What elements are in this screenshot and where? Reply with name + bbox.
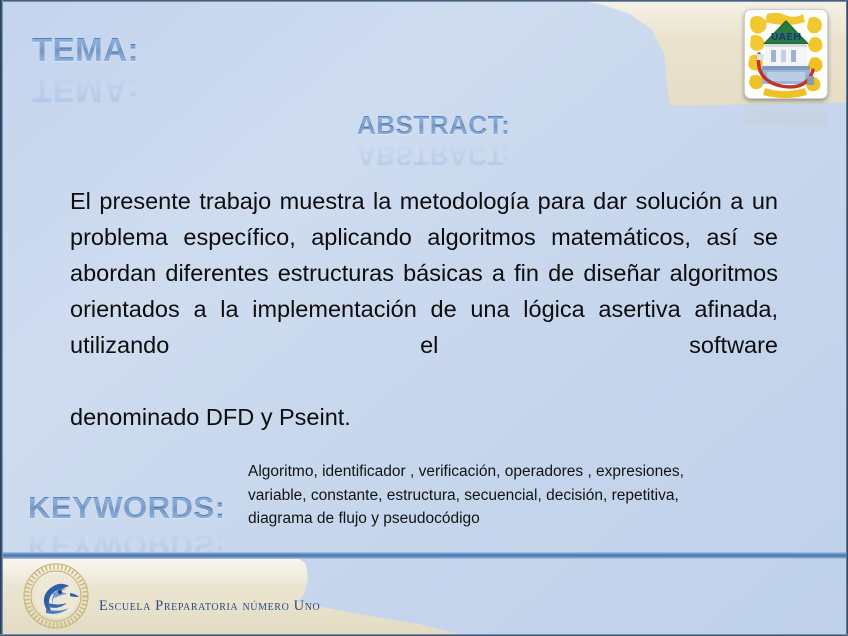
keywords-line-3: diagrama de flujo y pseudocódigo	[248, 507, 804, 531]
footer-divider-rule	[0, 552, 848, 559]
keywords-heading-group: KEYWORDS: KEYWORDS:	[28, 490, 225, 526]
tema-heading-group: TEMA: TEMA:	[32, 31, 139, 69]
svg-text:UAEH: UAEH	[771, 32, 802, 43]
keywords-heading: KEYWORDS:	[28, 490, 225, 526]
abstract-body: El presente trabajo muestra la metodolog…	[70, 183, 778, 435]
abstract-paragraph-1: El presente trabajo muestra la metodolog…	[70, 183, 778, 399]
abstract-heading: ABSTRACT:	[357, 110, 510, 141]
abstract-heading-group: ABSTRACT: ABSTRACT:	[357, 110, 510, 141]
tema-heading-reflection: TEMA:	[32, 71, 139, 109]
eagle-seal-icon	[22, 562, 90, 630]
uaeh-logo: UAEH	[744, 9, 828, 99]
tema-heading: TEMA:	[32, 31, 139, 69]
abstract-heading-reflection: ABSTRACT:	[357, 140, 510, 171]
slide-border-top	[0, 0, 848, 2]
footer-institution-label: Escuela Preparatoria número Uno	[99, 598, 320, 615]
keywords-line-2: variable, constante, estructura, secuenc…	[248, 484, 804, 508]
abstract-paragraph-2: denominado DFD y Pseint.	[70, 399, 778, 435]
slide-border-left	[0, 0, 3, 636]
keywords-line-1: Algoritmo, identificador , verificación,…	[248, 460, 804, 484]
uaeh-logo-reflection	[744, 99, 826, 125]
presentation-slide: UAEH TEMA: TEMA: ABSTRACT: ABSTRACT: El	[0, 0, 848, 636]
keywords-body: Algoritmo, identificador , verificación,…	[248, 460, 804, 531]
